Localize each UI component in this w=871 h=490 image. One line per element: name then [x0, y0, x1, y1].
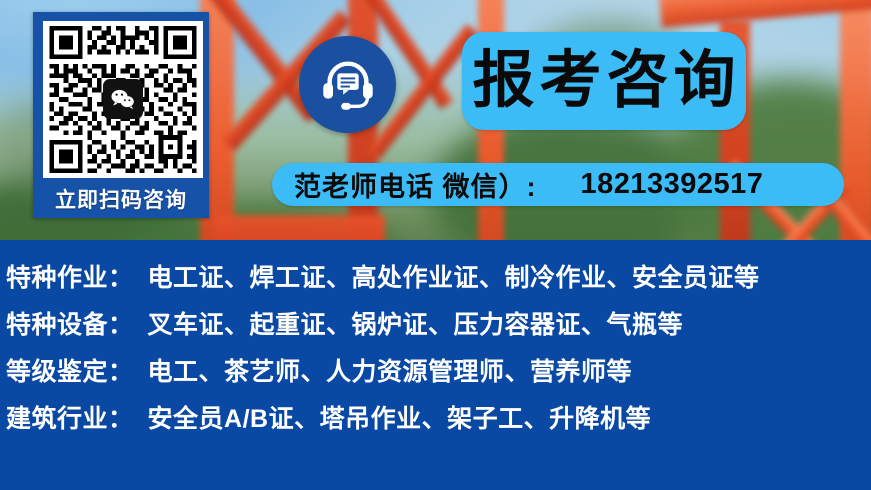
page-title: 报考咨询	[467, 50, 740, 112]
wechat-icon	[103, 79, 143, 119]
service-row: 等级鉴定： 电工、茶艺师、人力资源管理师、营养师等	[6, 352, 871, 399]
qr-caption: 立即扫码咨询	[37, 190, 205, 211]
promo-poster: 立即扫码咨询 报考咨询 范老师电话 微信）: 18213392517	[0, 0, 871, 490]
service-row: 特种作业： 电工证、焊工证、高处作业证、制冷作业、安全员证等	[6, 258, 871, 305]
service-items: 电工证、焊工证、高处作业证、制冷作业、安全员证等	[148, 258, 760, 294]
service-row: 特种设备： 叉车证、起重证、锅炉证、压力容器证、气瓶等	[6, 305, 871, 352]
service-category: 特种设备：	[6, 305, 134, 341]
service-row: 建筑行业： 安全员A/B证、塔吊作业、架子工、升降机等	[6, 399, 871, 446]
service-category: 等级鉴定：	[6, 352, 134, 388]
headset-support-icon[interactable]	[299, 36, 396, 133]
service-items: 电工、茶艺师、人力资源管理师、营养师等	[148, 352, 633, 388]
contact-banner[interactable]: 范老师电话 微信）: 18213392517	[272, 163, 844, 206]
wechat-glyph	[110, 88, 136, 110]
qr-code-panel[interactable]: 立即扫码咨询	[33, 12, 209, 218]
service-category: 特种作业：	[6, 258, 134, 294]
contact-label: 范老师电话 微信）:	[294, 165, 537, 204]
services-panel: 特种作业： 电工证、焊工证、高处作业证、制冷作业、安全员证等 特种设备： 叉车证…	[0, 240, 871, 490]
headset-glyph	[317, 54, 379, 116]
contact-number[interactable]: 18213392517	[581, 168, 764, 201]
service-items: 叉车证、起重证、锅炉证、压力容器证、气瓶等	[148, 305, 684, 341]
title-banner: 报考咨询	[462, 32, 746, 130]
qr-code-image[interactable]	[43, 21, 203, 178]
service-category: 建筑行业：	[6, 399, 134, 435]
service-items: 安全员A/B证、塔吊作业、架子工、升降机等	[148, 399, 652, 435]
